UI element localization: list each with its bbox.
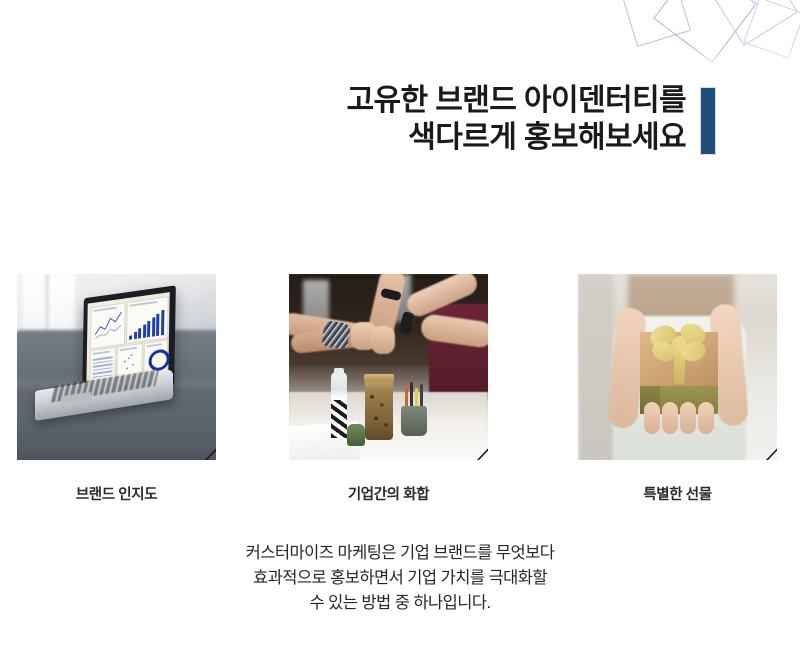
card-caption: 특별한 선물	[578, 483, 777, 504]
card-caption: 기업간의 화합	[289, 483, 488, 504]
body-line-2: 효과적으로 홍보하면서 기업 가치를 극대화할	[0, 566, 800, 591]
headline-block: 고유한 브랜드 아이덴터티를 색다르게 홍보해보세요	[0, 82, 716, 156]
feature-card: 기업간의 화합	[289, 274, 488, 504]
card-photo-team-fist-bump-over-desk	[289, 274, 488, 460]
card-caption: 브랜드 인지도	[17, 483, 216, 504]
square-outline-icon	[710, 0, 798, 46]
ribbon-bow-icon	[650, 320, 708, 382]
decor-fade-mask	[590, 46, 800, 80]
body-paragraph: 커스터마이즈 마케팅은 기업 브랜드를 무엇보다 효과적으로 홍보하면서 기업 …	[0, 541, 800, 616]
headline-line-1: 고유한 브랜드 아이덴터티를	[347, 82, 686, 119]
square-outline-icon	[653, 0, 757, 63]
square-outline-icon	[743, 0, 800, 59]
square-outline-icon	[621, 0, 691, 47]
page-title: 고유한 브랜드 아이덴터티를 색다르게 홍보해보세요	[347, 82, 700, 156]
feature-card: 브랜드 인지도	[17, 274, 216, 504]
card-photo-laptop-analytics-dashboard-on-sofa	[17, 274, 216, 460]
headline-line-2: 색다르게 홍보해보세요	[347, 119, 686, 156]
decorative-squares	[590, 0, 800, 80]
promo-page: 고유한 브랜드 아이덴터티를 색다르게 홍보해보세요	[0, 0, 800, 656]
body-line-1: 커스터마이즈 마케팅은 기업 브랜드를 무엇보다	[0, 541, 800, 566]
body-line-3: 수 있는 방법 중 하나입니다.	[0, 591, 800, 616]
headline-accent-bar	[700, 87, 716, 155]
feature-cards: 브랜드 인지도	[0, 274, 800, 504]
feature-card: 특별한 선물	[578, 274, 777, 504]
card-photo-hands-holding-gift-box	[578, 274, 777, 460]
